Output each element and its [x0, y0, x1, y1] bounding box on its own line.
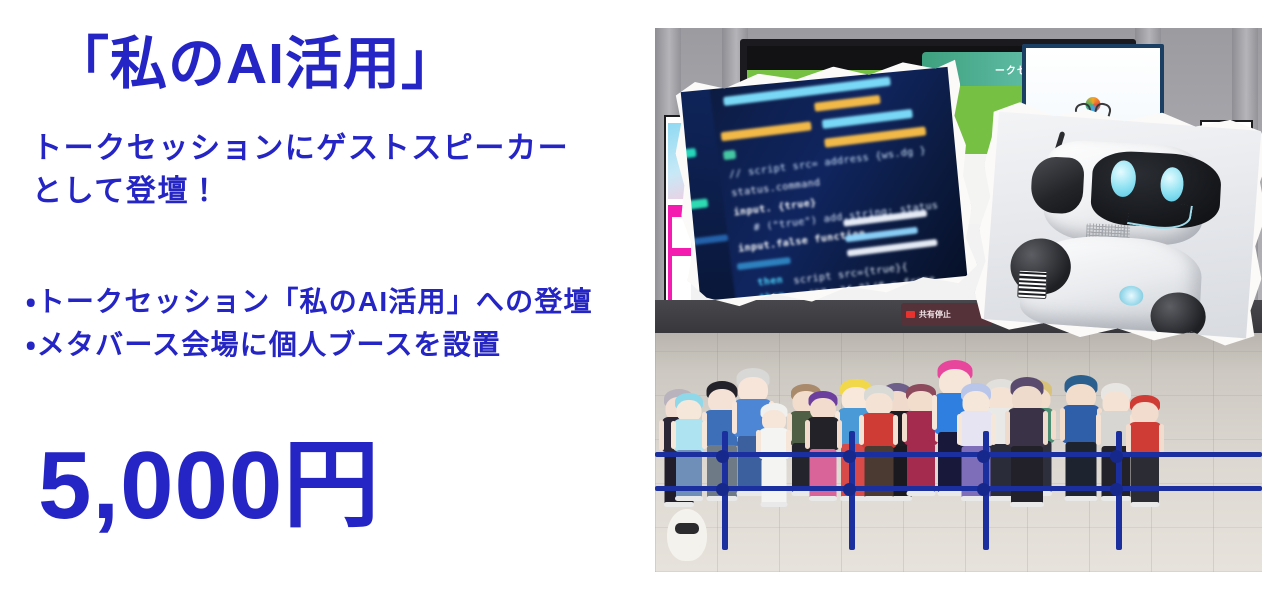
code-screenshot-inner: // script src= address {ws.dg } status.c… — [681, 67, 968, 301]
bullet-list: ・トークセッション「私のAI活用」への登壇 ・メタバース会場に個人ブースを設置 — [26, 280, 666, 367]
avatar-head — [907, 391, 934, 413]
poster-canvas: 「私のAI活用」 トークセッションにゲストスピーカー として登壇！ ・トークセッ… — [0, 0, 1280, 602]
barrier-rails — [655, 431, 1262, 551]
code-screenshot-polaroid: // script src= address {ws.dg } status.c… — [669, 55, 980, 313]
metaverse-event-photo: SAT 20:00 » 20:45 ークセッション ソーシャルノバ Social… — [655, 28, 1262, 572]
rail-horizontal — [655, 486, 1262, 491]
rail-knob — [716, 483, 729, 496]
subheadline-line-1: トークセッションにゲストスピーカー — [32, 128, 632, 171]
rail-knob — [1110, 450, 1123, 463]
robot-ear — [1030, 155, 1085, 214]
rail-knob — [716, 450, 729, 463]
page-title: 「私のAI活用」 — [52, 34, 459, 96]
list-item: ・トークセッション「私のAI活用」への登壇 — [26, 280, 666, 323]
rail-horizontal — [655, 452, 1262, 457]
rail-knob — [977, 483, 990, 496]
robot-keypad — [1017, 269, 1048, 299]
code-editor-capture: // script src= address {ws.dg } status.c… — [681, 67, 968, 301]
avatar-head — [1132, 402, 1159, 424]
avatar-arm-left — [932, 395, 937, 430]
rail-knob — [977, 450, 990, 463]
price-amount: 5,000円 — [38, 438, 380, 534]
robot-photo-inner — [984, 112, 1262, 339]
text-column: 「私のAI活用」 トークセッションにゲストスピーカー として登壇！ ・トークセッ… — [0, 0, 660, 602]
subheadline: トークセッションにゲストスピーカー として登壇！ — [32, 128, 632, 213]
list-item: ・メタバース会場に個人ブースを設置 — [26, 323, 666, 366]
rail-knob — [843, 450, 856, 463]
avatar-arm-left — [732, 401, 737, 434]
robot-photo — [984, 112, 1262, 339]
robot-photo-polaroid — [972, 100, 1262, 350]
subheadline-line-2: として登壇！ — [32, 171, 632, 214]
